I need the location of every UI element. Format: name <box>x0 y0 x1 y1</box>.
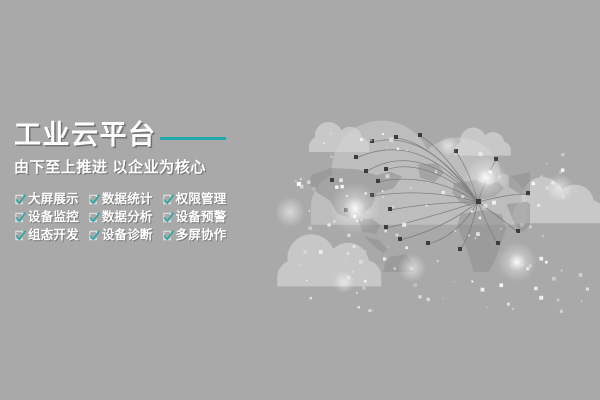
sparkle-dot <box>498 175 501 178</box>
light-glows <box>275 136 574 293</box>
sparkle-dot <box>557 299 559 301</box>
sparkle-dot <box>358 306 361 309</box>
page-subtitle: 由下至上推进 以企业为核心 <box>14 160 274 175</box>
sparkle-dot <box>300 178 302 180</box>
sparkle-dot <box>388 246 389 247</box>
sparkle-dot <box>539 296 543 300</box>
sparkle-dot <box>546 163 547 164</box>
sparkle-dot <box>427 298 430 301</box>
feature-label: 设备诊断 <box>102 229 153 242</box>
sparkle-dot <box>339 178 343 182</box>
sparkle-dot <box>532 182 535 185</box>
sparkle-dot <box>347 252 350 255</box>
feature-label: 设备监控 <box>28 211 79 224</box>
check-icon <box>14 193 27 206</box>
sparkle-dot <box>551 181 554 184</box>
sparkle-dot <box>522 264 524 266</box>
sparkle-dot <box>397 148 399 150</box>
sparkle-dot <box>520 223 524 227</box>
sparkle-dot <box>319 250 323 254</box>
sparkle-dot <box>483 204 487 208</box>
sparkle-dot <box>476 232 480 236</box>
feature-label: 大屏展示 <box>28 193 79 206</box>
sparkle-dot <box>346 195 348 197</box>
sparkle-dot <box>427 182 428 183</box>
sparkle-dot <box>560 310 563 313</box>
sparkle-dot <box>370 139 372 141</box>
sparkle-dot <box>500 228 502 230</box>
sparkle-dot <box>394 267 396 269</box>
network-nodes <box>330 133 530 251</box>
feature-item[interactable]: 大屏展示 <box>14 193 79 206</box>
sparkle-dot <box>365 192 367 194</box>
sparkle-dot <box>418 295 421 298</box>
sparkle-dot <box>347 234 350 237</box>
sparkle-dot <box>442 298 443 299</box>
check-icon <box>88 211 101 224</box>
sparkle-dot <box>353 245 356 248</box>
sparkle-dot <box>471 281 473 283</box>
feature-item[interactable]: 数据统计 <box>88 193 153 206</box>
sparkle-dot <box>516 232 517 233</box>
check-icon <box>88 229 101 242</box>
sparkle-dot <box>304 250 307 253</box>
sparkle-dot <box>409 187 412 190</box>
sparkle-dot <box>295 180 297 182</box>
check-icon <box>162 229 175 242</box>
sparkle-dot <box>581 301 582 302</box>
sparkle-dot <box>437 260 439 262</box>
banner-text-block: 工业云平台 由下至上推进 以企业为核心 大屏展示数据统计权限管理设备监控数据分析… <box>14 118 274 242</box>
cloud-top-left <box>309 122 369 152</box>
feature-item[interactable]: 权限管理 <box>162 193 227 206</box>
sparkle-dot <box>559 171 562 174</box>
sparkle-particles <box>295 133 589 313</box>
sparkle-dot <box>545 261 548 264</box>
sparkle-dot <box>347 276 351 280</box>
sparkle-dot <box>475 237 477 239</box>
sparkle-dot <box>534 287 538 291</box>
industrial-cloud-banner: 工业云平台 由下至上推进 以企业为核心 大屏展示数据统计权限管理设备监控数据分析… <box>0 0 600 400</box>
sparkle-dot <box>396 234 399 237</box>
sparkle-dot <box>364 250 366 252</box>
sparkle-dot <box>562 195 565 198</box>
feature-label: 数据分析 <box>102 211 153 224</box>
title-rule-divider <box>160 137 226 140</box>
sparkle-dot <box>537 204 540 207</box>
sparkle-dot <box>330 133 332 135</box>
sparkle-dot <box>512 308 514 310</box>
sparkle-dot <box>435 170 438 173</box>
sparkle-dot <box>361 219 363 221</box>
check-icon <box>162 193 175 206</box>
sparkle-dot <box>468 235 470 237</box>
sparkle-dot <box>435 172 436 173</box>
sparkle-dot <box>410 267 413 270</box>
sparkle-dot <box>542 235 544 237</box>
sparkle-dot <box>529 265 532 268</box>
cloud-top-right <box>455 128 511 156</box>
sparkle-dot <box>310 297 313 300</box>
sparkle-dot <box>356 220 358 222</box>
sparkle-dot <box>389 138 393 142</box>
sparkle-dot <box>307 181 310 184</box>
feature-label: 数据统计 <box>102 193 153 206</box>
sparkle-dot <box>352 271 354 273</box>
sparkle-dot <box>479 217 482 220</box>
sparkle-dot <box>309 210 310 211</box>
sparkle-dot <box>300 264 301 265</box>
sparkle-dot <box>362 287 365 290</box>
feature-label: 组态开发 <box>28 229 79 242</box>
sparkle-dot <box>526 267 529 270</box>
sparkle-dot <box>413 283 417 287</box>
sparkle-dot <box>579 273 583 277</box>
sparkle-dot <box>479 152 483 156</box>
sparkle-dot <box>385 230 387 232</box>
feature-item[interactable]: 设备预警 <box>162 211 227 224</box>
sparkle-dot <box>471 210 473 212</box>
sparkle-dot <box>335 186 338 189</box>
sparkle-dot <box>453 281 454 282</box>
sparkle-dot <box>386 147 387 148</box>
sparkle-dot <box>442 191 446 195</box>
sparkle-dot <box>492 201 496 205</box>
sparkle-dot <box>392 206 394 208</box>
check-icon <box>14 211 27 224</box>
sparkle-dot <box>381 235 382 236</box>
sparkle-dot <box>405 246 408 249</box>
sparkle-dot <box>481 288 485 292</box>
network-arcs <box>356 136 528 250</box>
feature-label: 权限管理 <box>176 193 227 206</box>
sparkle-dot <box>312 187 315 190</box>
title-row: 工业云平台 <box>14 118 274 152</box>
world-map <box>310 163 600 315</box>
sparkle-dot <box>552 277 556 281</box>
check-icon <box>14 229 27 242</box>
sparkle-dot <box>330 156 332 158</box>
sparkle-dot <box>382 133 384 135</box>
sparkle-dot <box>382 196 384 198</box>
sparkle-dot <box>426 205 428 207</box>
sparkle-dot <box>297 182 301 186</box>
sparkle-dot <box>360 138 363 141</box>
sparkle-dot <box>359 260 363 264</box>
sparkle-dot <box>386 174 390 178</box>
sparkle-dot <box>306 280 307 281</box>
sparkle-dot <box>561 168 565 172</box>
sparkle-dot <box>340 185 344 189</box>
sparkle-dot <box>539 257 543 261</box>
sparkle-dot <box>327 223 330 226</box>
sparkle-dot <box>461 195 464 198</box>
sparkle-dot <box>454 230 456 232</box>
sparkle-dot <box>586 288 589 291</box>
sparkle-dot <box>383 257 386 260</box>
feature-item[interactable]: 数据分析 <box>88 211 153 224</box>
sparkle-dot <box>540 175 542 177</box>
sparkle-dot <box>507 303 510 306</box>
feature-label: 设备预警 <box>176 211 227 224</box>
sparkle-dot <box>308 226 312 230</box>
sparkle-dot <box>345 258 346 259</box>
cloud-right <box>513 177 600 223</box>
feature-item[interactable]: 设备监控 <box>14 211 79 224</box>
page-title: 工业云平台 <box>14 122 157 149</box>
cloud-main-large <box>311 121 527 225</box>
check-icon <box>162 211 175 224</box>
feature-item[interactable]: 多屏协作 <box>162 229 227 242</box>
sparkle-dot <box>499 283 503 287</box>
feature-list: 大屏展示数据统计权限管理设备监控数据分析设备预警组态开发设备诊断多屏协作 <box>14 193 274 242</box>
sparkle-dot <box>402 223 406 227</box>
sparkle-dot <box>575 191 577 193</box>
sparkle-dot <box>323 143 325 145</box>
sparkle-dot <box>545 186 548 189</box>
sparkle-dot <box>529 226 532 229</box>
sparkle-dot <box>561 153 564 156</box>
feature-item[interactable]: 组态开发 <box>14 229 79 242</box>
cloud-bottom-left <box>277 234 381 286</box>
sparkle-dot <box>406 150 408 152</box>
sparkle-dot <box>561 269 563 271</box>
sparkle-dot <box>364 280 367 283</box>
sparkle-dot <box>356 292 357 293</box>
check-icon <box>88 193 101 206</box>
feature-item[interactable]: 设备诊断 <box>88 229 153 242</box>
sparkle-dot <box>353 215 356 218</box>
cloud-group <box>277 121 600 287</box>
feature-label: 多屏协作 <box>176 229 227 242</box>
sparkle-dot <box>333 220 336 223</box>
sparkle-dot <box>489 170 492 173</box>
sparkle-dot <box>370 309 373 312</box>
sparkle-dot <box>300 185 304 189</box>
sparkle-dot <box>368 309 370 311</box>
sparkle-dot <box>486 307 487 308</box>
sparkle-dot <box>382 190 384 192</box>
